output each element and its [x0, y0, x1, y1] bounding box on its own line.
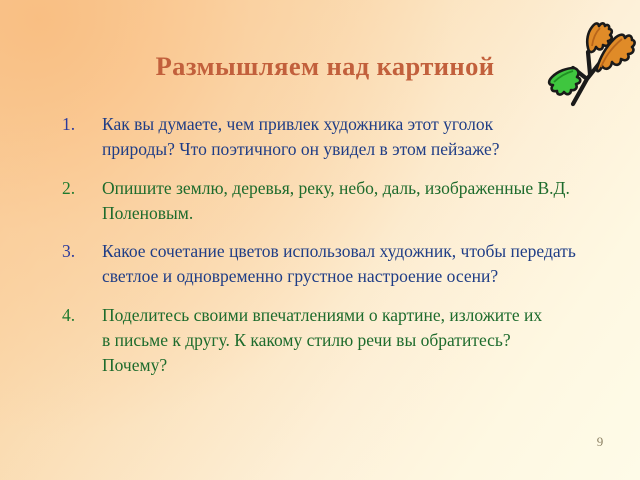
question-text-1: Как вы думаете, чем привлек художника эт…: [102, 112, 542, 162]
slide-title: Размышляем над картиной: [0, 52, 640, 81]
question-item-1: 1. Как вы думаете, чем привлек художника…: [62, 112, 582, 162]
question-number-1: 1.: [62, 112, 102, 137]
question-number-2: 2.: [62, 176, 102, 201]
question-text-3: Какое сочетание цветов использовал худож…: [102, 239, 580, 289]
question-text-2: Опишите землю, деревья, реку, небо, даль…: [102, 176, 582, 226]
question-number-3: 3.: [62, 239, 102, 264]
question-number-4: 4.: [62, 303, 102, 328]
question-item-2: 2. Опишите землю, деревья, реку, небо, д…: [62, 176, 582, 226]
question-item-3: 3. Какое сочетание цветов использовал ху…: [62, 239, 582, 289]
page-number: 9: [590, 434, 610, 450]
question-text-4: Поделитесь своими впечатлениями о картин…: [102, 303, 554, 378]
question-list: 1. Как вы думаете, чем привлек художника…: [62, 112, 582, 378]
question-item-4: 4. Поделитесь своими впечатлениями о кар…: [62, 303, 582, 378]
slide-canvas: Размышляем над картиной 1. Как вы думает…: [0, 0, 640, 480]
